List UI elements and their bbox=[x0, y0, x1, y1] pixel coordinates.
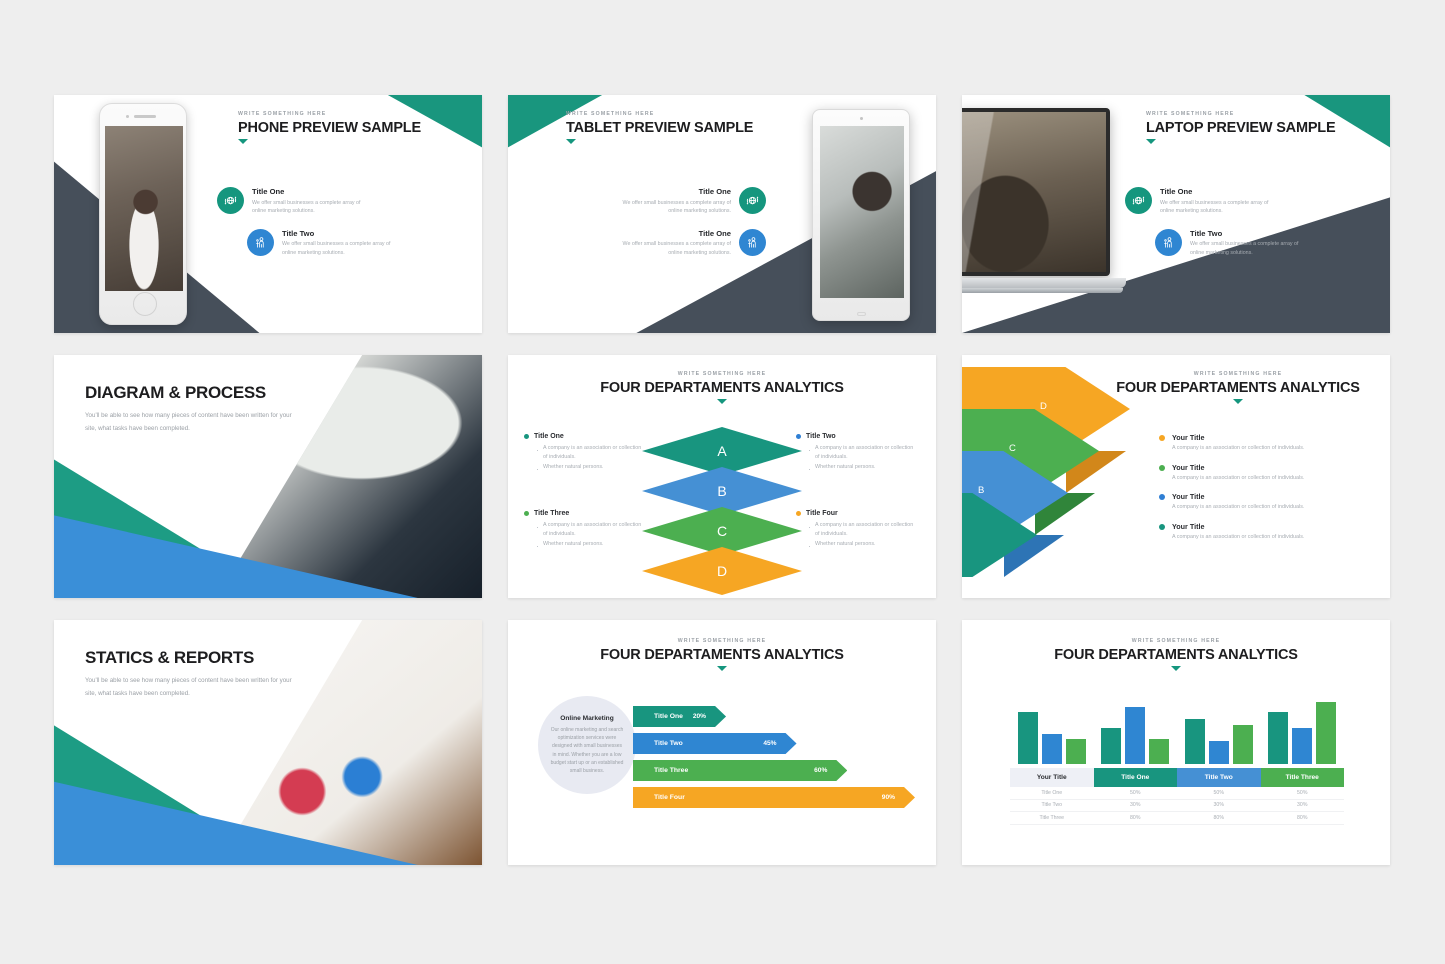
legend-dot bbox=[524, 511, 529, 516]
arrow-legend-list: Your TitleA company is an association or… bbox=[1159, 433, 1384, 551]
triangle-accent-icon bbox=[1146, 139, 1156, 144]
kicker-text: WRITE SOMETHING HERE bbox=[1146, 111, 1335, 117]
legend-dot bbox=[796, 511, 801, 516]
feature-item[interactable]: Title One We offer small businesses a co… bbox=[1125, 187, 1375, 215]
table-cell-label: Title Two bbox=[1010, 802, 1094, 808]
laptop-mockup bbox=[962, 108, 1118, 298]
arrow-label: D bbox=[1040, 401, 1047, 412]
bar-value: 20% bbox=[693, 713, 706, 720]
legend-title: Your Title bbox=[1172, 433, 1304, 442]
circle-description: Our online marketing and search optimiza… bbox=[550, 726, 624, 775]
bar-value: 60% bbox=[814, 767, 827, 774]
feature-title: Title One bbox=[252, 187, 372, 196]
phone-screen bbox=[105, 126, 183, 291]
bar-series-three bbox=[1316, 702, 1336, 764]
bar-series-two bbox=[1209, 741, 1229, 764]
page-title: FOUR DEPARTAMENTS ANALYTICS bbox=[600, 647, 844, 663]
people-group-icon bbox=[1155, 229, 1182, 256]
table-row: Title Three 80% 80% 80% bbox=[1010, 812, 1344, 825]
diamond-label: D bbox=[717, 563, 727, 579]
heading-block: WRITE SOMETHING HERE PHONE PREVIEW SAMPL… bbox=[238, 111, 421, 144]
table-cell-value: 50% bbox=[1094, 790, 1178, 796]
legend-title: Title Three bbox=[534, 510, 569, 517]
people-group-icon bbox=[247, 229, 274, 256]
photo-office-meeting-room bbox=[962, 112, 1106, 272]
slide-diagram-process[interactable]: DIAGRAM & PROCESS You'll be able to see … bbox=[54, 355, 482, 598]
legend-item-title-four[interactable]: Title Four A company is an association o… bbox=[796, 510, 916, 549]
table-cell-label: Title One bbox=[1010, 790, 1094, 796]
page-title: TABLET PREVIEW SAMPLE bbox=[566, 120, 753, 136]
kicker-text: WRITE SOMETHING HERE bbox=[678, 371, 766, 377]
page-subtitle: You'll be able to see how many pieces of… bbox=[85, 675, 300, 700]
legend-dot bbox=[524, 434, 529, 439]
bar-label: Title One bbox=[654, 713, 683, 720]
legend-dot bbox=[1159, 524, 1165, 530]
diamond-stack: A B C D bbox=[642, 427, 802, 587]
legend-item[interactable]: Your TitleA company is an association or… bbox=[1159, 463, 1384, 481]
legend-bullet: Whether natural persons. bbox=[536, 540, 644, 549]
table-cell-value: 80% bbox=[1177, 815, 1261, 821]
feature-description: We offer small businesses a complete arr… bbox=[1190, 240, 1310, 256]
feature-description: We offer small businesses a complete arr… bbox=[611, 240, 731, 256]
triangle-accent-icon bbox=[717, 399, 727, 404]
legend-item[interactable]: Your TitleA company is an association or… bbox=[1159, 433, 1384, 451]
kicker-text: WRITE SOMETHING HERE bbox=[566, 111, 753, 117]
phone-camera-icon bbox=[126, 115, 129, 118]
table-header-cell: Title One bbox=[1094, 768, 1178, 787]
phone-mockup bbox=[99, 103, 187, 325]
legend-dot bbox=[796, 434, 801, 439]
table-body: Title One 50% 50% 50% Title Two 30% 30% … bbox=[1010, 787, 1344, 825]
legend-description: A company is an association or collectio… bbox=[1172, 445, 1304, 451]
heading-block: WRITE SOMETHING HERE TABLET PREVIEW SAMP… bbox=[566, 111, 753, 144]
legend-bullet: Whether natural persons. bbox=[808, 463, 916, 472]
feature-description: We offer small businesses a complete arr… bbox=[611, 199, 731, 215]
table-cell-label: Title Three bbox=[1010, 815, 1094, 821]
bar-series-one bbox=[1185, 719, 1205, 764]
bar-group bbox=[1177, 719, 1261, 764]
diamond-label: B bbox=[717, 483, 726, 499]
bar-group bbox=[1010, 712, 1094, 764]
page-title: LAPTOP PREVIEW SAMPLE bbox=[1146, 120, 1335, 136]
feature-item[interactable]: Title Two We offer small businesses a co… bbox=[1155, 229, 1375, 257]
arrow-stack: D C B A bbox=[962, 367, 1190, 577]
arrow-bar-chart: Title One 20% Title Two 45% Title Three … bbox=[633, 706, 915, 814]
bar-series-one bbox=[1018, 712, 1038, 764]
bar-series-one bbox=[1101, 728, 1121, 764]
diamond-d[interactable]: D bbox=[642, 547, 802, 595]
table-cell-value: 30% bbox=[1261, 802, 1345, 808]
feature-title: Title One bbox=[611, 229, 731, 238]
slide-grid: WRITE SOMETHING HERE PHONE PREVIEW SAMPL… bbox=[54, 95, 1391, 867]
bar-title-one[interactable]: Title One 20% bbox=[633, 706, 726, 727]
feature-title: Title One bbox=[611, 187, 731, 196]
legend-bullet: A company is an association or collectio… bbox=[808, 521, 916, 540]
diamond-label: A bbox=[717, 443, 726, 459]
bar-value: 90% bbox=[882, 794, 895, 801]
legend-dot bbox=[1159, 465, 1165, 471]
feature-title: Title Two bbox=[1190, 229, 1310, 238]
table-cell-value: 80% bbox=[1261, 815, 1345, 821]
table-cell-value: 80% bbox=[1094, 815, 1178, 821]
bar-series-three bbox=[1066, 739, 1086, 764]
bar-value: 45% bbox=[763, 740, 776, 747]
tablet-camera-icon bbox=[860, 117, 863, 120]
legend-title: Your Title bbox=[1172, 522, 1304, 531]
legend-item-title-three[interactable]: Title Three A company is an association … bbox=[524, 510, 644, 549]
legend-title: Your Title bbox=[1172, 463, 1304, 472]
bar-title-four[interactable]: Title Four 90% bbox=[633, 787, 915, 808]
bar-series-two bbox=[1042, 734, 1062, 764]
arrow-label: C bbox=[1009, 443, 1016, 454]
heading-block: WRITE SOMETHING HERE FOUR DEPARTAMENTS A… bbox=[508, 371, 936, 404]
globe-network-icon bbox=[217, 187, 244, 214]
feature-item[interactable]: Title One We offer small businesses a co… bbox=[604, 187, 766, 215]
tablet-home-button bbox=[857, 312, 866, 316]
feature-item[interactable]: Title Two We offer small businesses a co… bbox=[247, 229, 467, 257]
tablet-mockup bbox=[812, 109, 910, 321]
laptop-lid bbox=[962, 108, 1110, 276]
triangle-accent-icon bbox=[717, 666, 727, 671]
legend-bullet: Whether natural persons. bbox=[536, 463, 644, 472]
circle-title: Online Marketing bbox=[560, 715, 614, 722]
bar-label: Title Three bbox=[654, 767, 688, 774]
feature-list: Title One We offer small businesses a co… bbox=[217, 187, 467, 257]
legend-description: A company is an association or collectio… bbox=[1172, 504, 1304, 510]
feature-item[interactable]: Title One We offer small businesses a co… bbox=[574, 229, 766, 257]
legend-bullet: Whether natural persons. bbox=[808, 540, 916, 549]
slide-four-departaments-diamonds[interactable]: WRITE SOMETHING HERE FOUR DEPARTAMENTS A… bbox=[508, 355, 936, 598]
feature-list: Title One We offer small businesses a co… bbox=[526, 187, 766, 257]
feature-description: We offer small businesses a complete arr… bbox=[1160, 199, 1280, 215]
kicker-text: WRITE SOMETHING HERE bbox=[1194, 371, 1282, 377]
table-header-cell: Title Three bbox=[1261, 768, 1345, 787]
table-cell-value: 30% bbox=[1094, 802, 1178, 808]
photo-woman-laptop bbox=[105, 126, 183, 291]
legend-description: A company is an association or collectio… bbox=[1172, 534, 1304, 540]
page-title: FOUR DEPARTAMENTS ANALYTICS bbox=[1054, 647, 1298, 663]
legend-item-title-one[interactable]: Title One A company is an association or… bbox=[524, 433, 644, 472]
laptop-base-shadow bbox=[962, 288, 1123, 293]
table-cell-value: 50% bbox=[1177, 790, 1261, 796]
triangle-accent-icon bbox=[566, 139, 576, 144]
legend-title: Title Two bbox=[806, 433, 836, 440]
legend-dot bbox=[1159, 494, 1165, 500]
legend-item-title-two[interactable]: Title Two A company is an association or… bbox=[796, 433, 916, 472]
slide-four-departaments-grouped-bars[interactable]: WRITE SOMETHING HERE FOUR DEPARTAMENTS A… bbox=[962, 620, 1390, 865]
laptop-screen bbox=[962, 112, 1106, 272]
legend-item[interactable]: Your TitleA company is an association or… bbox=[1159, 522, 1384, 540]
feature-title: Title Two bbox=[282, 229, 402, 238]
triangle-accent-icon bbox=[1171, 666, 1181, 671]
triangle-accent-icon bbox=[238, 139, 248, 144]
legend-bullet: A company is an association or collectio… bbox=[536, 521, 644, 540]
slide-phone-preview[interactable]: WRITE SOMETHING HERE PHONE PREVIEW SAMPL… bbox=[54, 95, 482, 333]
page-title: DIAGRAM & PROCESS bbox=[85, 383, 300, 403]
kicker-text: WRITE SOMETHING HERE bbox=[238, 111, 421, 117]
kicker-text: WRITE SOMETHING HERE bbox=[678, 638, 766, 644]
triangle-accent-icon bbox=[1233, 399, 1243, 404]
table-cell-value: 50% bbox=[1261, 790, 1345, 796]
bar-title-two[interactable]: Title Two 45% bbox=[633, 733, 797, 754]
heading-block: WRITE SOMETHING HERE LAPTOP PREVIEW SAMP… bbox=[1146, 111, 1335, 144]
table-cell-value: 30% bbox=[1177, 802, 1261, 808]
arrow-label: B bbox=[978, 485, 984, 496]
slide-tablet-preview[interactable]: WRITE SOMETHING HERE TABLET PREVIEW SAMP… bbox=[508, 95, 936, 333]
legend-bullet: A company is an association or collectio… bbox=[808, 444, 916, 463]
tablet-screen bbox=[820, 126, 904, 298]
heading-block: WRITE SOMETHING HERE FOUR DEPARTAMENTS A… bbox=[508, 638, 936, 671]
slide-four-departaments-bars[interactable]: WRITE SOMETHING HERE FOUR DEPARTAMENTS A… bbox=[508, 620, 936, 865]
table-header-cell: Your Title bbox=[1010, 768, 1094, 787]
slide-laptop-preview[interactable]: WRITE SOMETHING HERE LAPTOP PREVIEW SAMP… bbox=[962, 95, 1390, 333]
feature-description: We offer small businesses a complete arr… bbox=[252, 199, 372, 215]
online-marketing-circle: Online Marketing Our online marketing an… bbox=[538, 696, 636, 794]
photo-man-laptop bbox=[820, 126, 904, 298]
bar-title-three[interactable]: Title Three 60% bbox=[633, 760, 847, 781]
phone-home-button bbox=[133, 292, 157, 316]
legend-title: Your Title bbox=[1172, 492, 1304, 501]
grouped-bar-chart bbox=[1010, 692, 1344, 764]
page-title: PHONE PREVIEW SAMPLE bbox=[238, 120, 421, 136]
heading-block: STATICS & REPORTS You'll be able to see … bbox=[85, 648, 300, 700]
globe-network-icon bbox=[739, 187, 766, 214]
feature-list: Title One We offer small businesses a co… bbox=[1125, 187, 1375, 257]
legend-description: A company is an association or collectio… bbox=[1172, 475, 1304, 481]
legend-title: Title One bbox=[534, 433, 564, 440]
kicker-text: WRITE SOMETHING HERE bbox=[1132, 638, 1220, 644]
heading-block: WRITE SOMETHING HERE FOUR DEPARTAMENTS A… bbox=[962, 638, 1390, 671]
bar-label: Title Two bbox=[654, 740, 683, 747]
bar-series-two bbox=[1292, 728, 1312, 764]
bar-label: Title Four bbox=[654, 794, 685, 801]
feature-description: We offer small businesses a complete arr… bbox=[282, 240, 402, 256]
laptop-base bbox=[962, 278, 1126, 288]
legend-bullet: A company is an association or collectio… bbox=[536, 444, 644, 463]
table-header-row: Your Title Title One Title Two Title Thr… bbox=[1010, 768, 1344, 787]
bar-series-three bbox=[1149, 739, 1169, 764]
legend-item[interactable]: Your TitleA company is an association or… bbox=[1159, 492, 1384, 510]
legend-dot bbox=[1159, 435, 1165, 441]
feature-item[interactable]: Title One We offer small businesses a co… bbox=[217, 187, 467, 215]
table-row: Title Two 30% 30% 30% bbox=[1010, 800, 1344, 813]
phone-speaker-icon bbox=[134, 115, 156, 118]
bar-series-three bbox=[1233, 725, 1253, 764]
bar-group bbox=[1094, 707, 1178, 764]
page-title: STATICS & REPORTS bbox=[85, 648, 300, 668]
table-header-cell: Title Two bbox=[1177, 768, 1261, 787]
people-group-icon bbox=[739, 229, 766, 256]
page-subtitle: You'll be able to see how many pieces of… bbox=[85, 410, 300, 435]
legend-title: Title Four bbox=[806, 510, 838, 517]
slide-four-departaments-arrows[interactable]: WRITE SOMETHING HERE FOUR DEPARTAMENTS A… bbox=[962, 355, 1390, 598]
bar-series-one bbox=[1268, 712, 1288, 764]
globe-network-icon bbox=[1125, 187, 1152, 214]
diamond-label: C bbox=[717, 523, 727, 539]
bar-series-two bbox=[1125, 707, 1145, 764]
feature-title: Title One bbox=[1160, 187, 1280, 196]
slide-statics-reports[interactable]: STATICS & REPORTS You'll be able to see … bbox=[54, 620, 482, 865]
table-row: Title One 50% 50% 50% bbox=[1010, 787, 1344, 800]
bar-group bbox=[1261, 702, 1345, 764]
page-title: FOUR DEPARTAMENTS ANALYTICS bbox=[600, 380, 844, 396]
heading-block: DIAGRAM & PROCESS You'll be able to see … bbox=[85, 383, 300, 435]
